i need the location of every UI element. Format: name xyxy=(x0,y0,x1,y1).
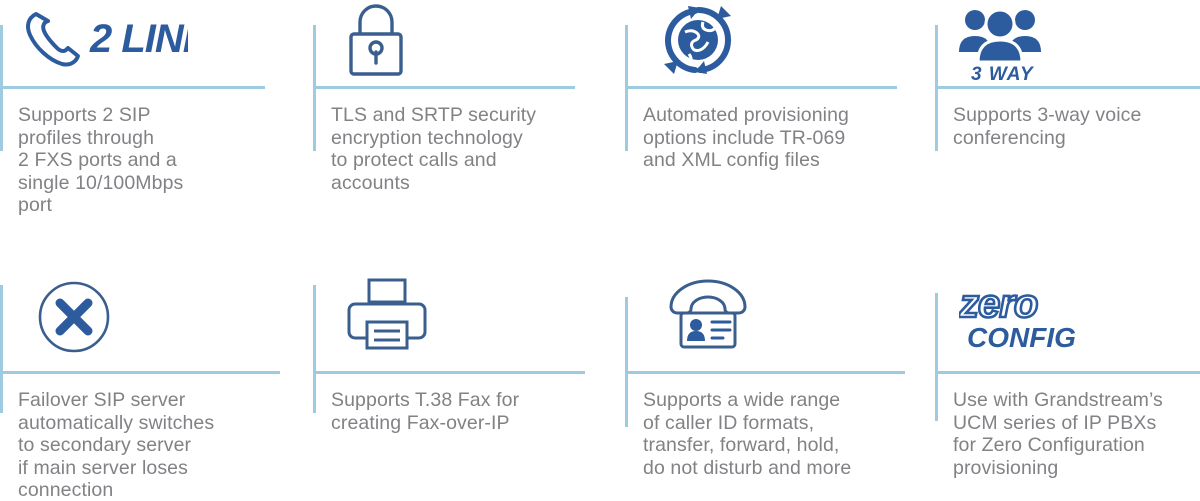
feature-row-bottom: Failover SIP server automatically switch… xyxy=(0,265,1200,501)
accent-horizontal-rule xyxy=(0,371,280,374)
phone-caller-id-icon xyxy=(665,277,751,353)
accent-horizontal-rule xyxy=(935,86,1200,89)
feature-description: Supports 3-way voice conferencing xyxy=(953,104,1141,149)
feature-description: Use with Grandstream’s UCM series of IP … xyxy=(953,389,1163,479)
feature-cell-two-lines: 2 LINES Supports 2 SIP profiles through … xyxy=(0,0,300,250)
accent-vertical-rule xyxy=(935,293,938,421)
feature-cell-provisioning: Automated provisioning options include T… xyxy=(625,0,925,250)
feature-cell-zero-config: zero CONFIG Use with Grandstream’s UCM s… xyxy=(935,265,1200,501)
feature-description: Supports T.38 Fax for creating Fax-over-… xyxy=(331,389,519,434)
globe-refresh-icon xyxy=(655,2,741,78)
accent-horizontal-rule xyxy=(0,86,265,89)
zero-config-logo: zero CONFIG xyxy=(959,283,1079,359)
accent-horizontal-rule xyxy=(625,371,905,374)
feature-cell-failover: Failover SIP server automatically switch… xyxy=(0,265,300,501)
three-way-label: 3 WAY xyxy=(971,64,1035,82)
fax-printer-icon xyxy=(347,277,427,353)
accent-horizontal-rule xyxy=(313,86,575,89)
feature-cell-security: TLS and SRTP security encryption technol… xyxy=(313,0,613,250)
zero-word: zero xyxy=(959,283,1038,326)
accent-vertical-rule xyxy=(625,297,628,427)
feature-cell-caller-id: Supports a wide range of caller ID forma… xyxy=(625,265,925,501)
feature-description: Automated provisioning options include T… xyxy=(643,104,849,172)
circle-x-failover-icon xyxy=(36,279,112,355)
accent-horizontal-rule xyxy=(313,371,585,374)
three-way-people-icon: 3 WAY xyxy=(953,2,1049,82)
accent-horizontal-rule xyxy=(625,86,897,89)
feature-cell-three-way: 3 WAY Supports 3-way voice conferencing xyxy=(935,0,1200,250)
padlock-icon xyxy=(343,2,409,78)
feature-description: Failover SIP server automatically switch… xyxy=(18,389,214,501)
accent-vertical-rule xyxy=(0,285,3,413)
config-word: CONFIG xyxy=(967,322,1076,353)
feature-grid: 2 LINES Supports 2 SIP profiles through … xyxy=(0,0,1200,501)
accent-horizontal-rule xyxy=(935,371,1200,374)
two-lines-label: 2 LINES xyxy=(89,17,188,61)
feature-description: TLS and SRTP security encryption technol… xyxy=(331,104,536,194)
feature-cell-fax: Supports T.38 Fax for creating Fax-over-… xyxy=(313,265,613,501)
two-lines-phone-icon: 2 LINES xyxy=(18,6,188,70)
feature-row-top: 2 LINES Supports 2 SIP profiles through … xyxy=(0,0,1200,250)
feature-description: Supports 2 SIP profiles through 2 FXS po… xyxy=(18,104,183,217)
accent-vertical-rule xyxy=(313,285,316,413)
feature-description: Supports a wide range of caller ID forma… xyxy=(643,389,851,479)
